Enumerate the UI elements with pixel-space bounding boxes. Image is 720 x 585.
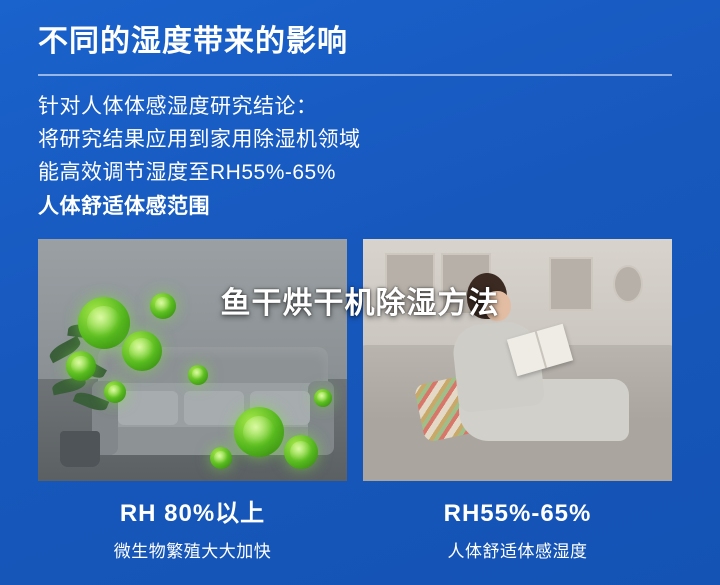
body-copy: 针对人体体感湿度研究结论： 将研究结果应用到家用除湿机领域 能高效调节湿度至RH… [38, 90, 682, 223]
germ-icon [314, 389, 332, 407]
plant-pot [60, 431, 100, 467]
poster: 不同的湿度带来的影响 针对人体体感湿度研究结论： 将研究结果应用到家用除湿机领域… [0, 0, 720, 585]
germ-icon [210, 447, 232, 469]
photo-mold-living-room [38, 239, 347, 481]
copy-line-4: 人体舒适体感范围 [38, 190, 682, 223]
germ-icon [234, 407, 284, 457]
germ-icon [104, 381, 126, 403]
germ-icon [66, 351, 96, 381]
caption-left-title: RH 80%以上 [38, 499, 347, 529]
sofa-cushion-left [118, 391, 178, 425]
caption-left-sub: 微生物繁殖大大加快 [38, 537, 347, 562]
copy-line-2: 将研究结果应用到家用除湿机领域 [38, 123, 682, 156]
caption-right: RH55%-65% 人体舒适体感湿度 [363, 499, 672, 562]
copy-line-1: 针对人体体感湿度研究结论： [38, 90, 682, 123]
photo-row [38, 239, 682, 481]
copy-line-3: 能高效调节湿度至RH55%-65% [38, 156, 682, 189]
germ-icon [284, 435, 318, 469]
title-divider [38, 74, 672, 76]
sofa-cushion-mid [184, 391, 244, 425]
photo-comfort-reading [363, 239, 672, 481]
caption-row: RH 80%以上 微生物繁殖大大加快 RH55%-65% 人体舒适体感湿度 [38, 499, 682, 562]
caption-left: RH 80%以上 微生物繁殖大大加快 [38, 499, 347, 562]
caption-right-title: RH55%-65% [363, 499, 672, 529]
germ-icon [188, 365, 208, 385]
overlay-headline: 鱼干烘干机除湿方法 [0, 278, 720, 322]
page-title: 不同的湿度带来的影响 [38, 18, 682, 64]
caption-right-sub: 人体舒适体感湿度 [363, 537, 672, 562]
germ-icon [122, 331, 162, 371]
